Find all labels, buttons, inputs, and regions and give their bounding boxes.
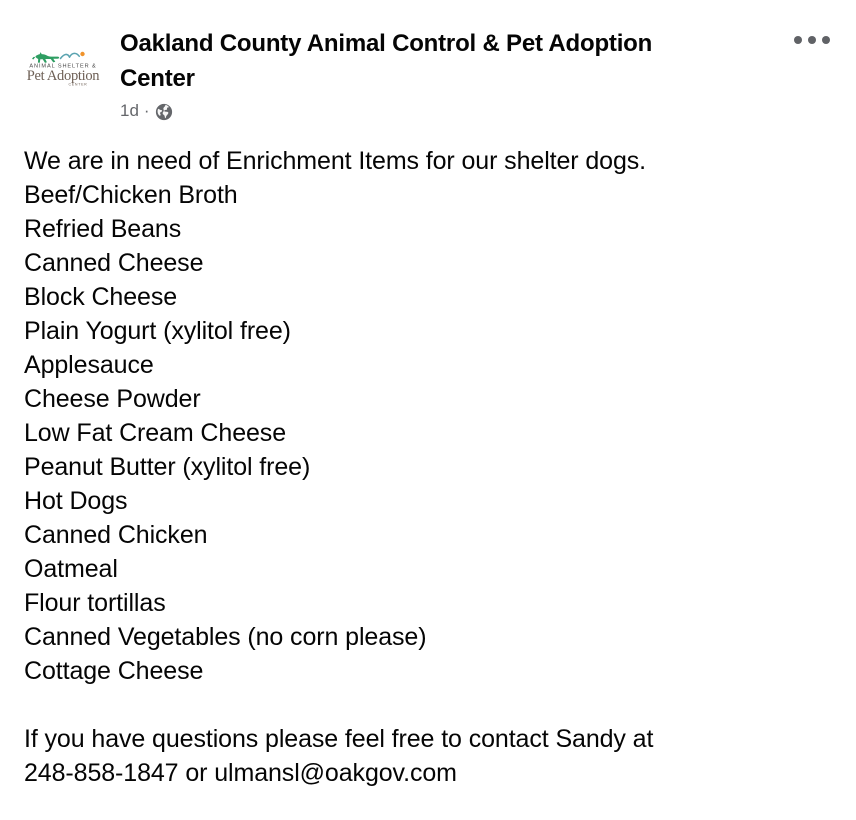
page-name-link[interactable]: Oakland County Animal Control & Pet Adop… — [120, 26, 724, 96]
post-menu-button[interactable] — [788, 30, 836, 50]
post-line-blank — [24, 688, 832, 722]
post-timestamp[interactable]: 1d — [120, 101, 139, 121]
post-line: Block Cheese — [24, 280, 832, 314]
post-line: If you have questions please feel free t… — [24, 722, 832, 756]
ellipsis-dot-1 — [794, 36, 802, 44]
post-line: Canned Cheese — [24, 246, 832, 280]
post-line: Beef/Chicken Broth — [24, 178, 832, 212]
ellipsis-dot-2 — [808, 36, 816, 44]
avatar[interactable]: ANIMAL SHELTER & Pet Adoption CENTER — [22, 25, 104, 107]
avatar-text-main: Pet Adoption — [27, 68, 101, 84]
avatar-text-bottom: CENTER — [69, 83, 88, 87]
post-line: Hot Dogs — [24, 484, 832, 518]
post-line: Cottage Cheese — [24, 654, 832, 688]
post-line: Applesauce — [24, 348, 832, 382]
post-line: Plain Yogurt (xylitol free) — [24, 314, 832, 348]
post-message: We are in need of Enrichment Items for o… — [0, 121, 856, 790]
post-line: Refried Beans — [24, 212, 832, 246]
facebook-post: ANIMAL SHELTER & Pet Adoption CENTER Oak… — [0, 0, 856, 820]
post-line: Oatmeal — [24, 552, 832, 586]
post-header-text: Oakland County Animal Control & Pet Adop… — [104, 22, 724, 121]
post-line: Canned Chicken — [24, 518, 832, 552]
meta-separator: · — [144, 101, 150, 121]
post-line: Peanut Butter (xylitol free) — [24, 450, 832, 484]
post-line: We are in need of Enrichment Items for o… — [24, 144, 832, 178]
post-line: Flour tortillas — [24, 586, 832, 620]
orange-dot-icon — [80, 52, 84, 56]
globe-icon[interactable] — [155, 103, 173, 121]
post-line: Low Fat Cream Cheese — [24, 416, 832, 450]
post-header: ANIMAL SHELTER & Pet Adoption CENTER Oak… — [0, 0, 856, 121]
animal-shelter-pet-adoption-logo: ANIMAL SHELTER & Pet Adoption CENTER — [22, 25, 104, 107]
post-line: 248-858-1847 or ulmansl@oakgov.com — [24, 756, 832, 790]
post-line: Canned Vegetables (no corn please) — [24, 620, 832, 654]
post-meta-row: 1d · — [120, 101, 724, 121]
post-line: Cheese Powder — [24, 382, 832, 416]
ellipsis-dot-3 — [822, 36, 830, 44]
